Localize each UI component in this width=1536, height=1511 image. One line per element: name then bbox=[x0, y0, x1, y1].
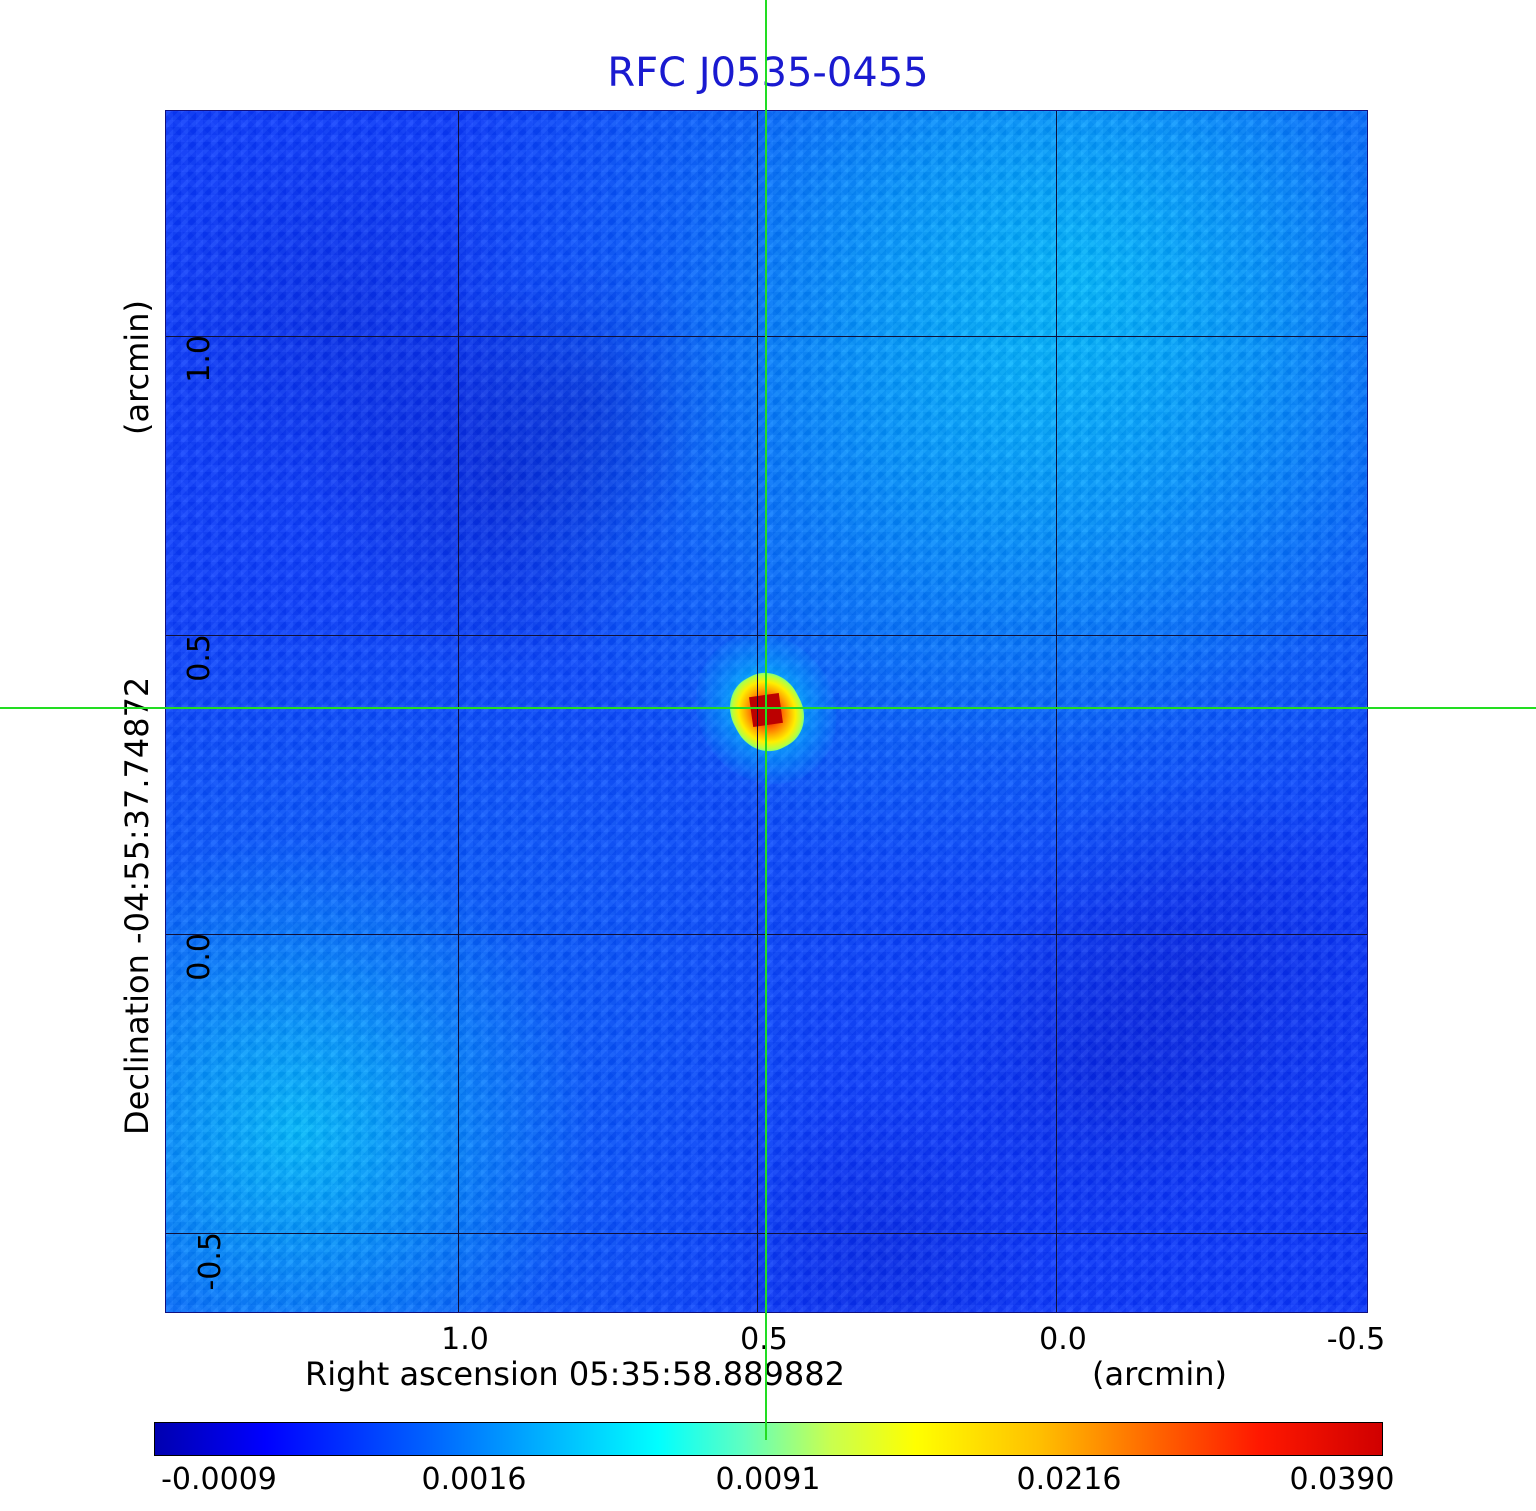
figure-root: RFC J0535-0455 1.0 0.5 0.0 bbox=[0, 0, 1536, 1511]
gridline-vertical-3 bbox=[1056, 111, 1057, 1312]
y-tick-label-2: 0.5 bbox=[182, 634, 217, 682]
y-axis-unit: (arcmin) bbox=[118, 300, 156, 435]
page-title: RFC J0535-0455 bbox=[0, 50, 1536, 96]
colorbar-tick-1: -0.0009 bbox=[161, 1462, 277, 1497]
x-tick-label-4: -0.5 bbox=[1327, 1322, 1386, 1357]
colorbar-tick-5: 0.0390 bbox=[1290, 1462, 1395, 1497]
x-axis-label: Right ascension 05:35:58.889882 bbox=[305, 1355, 845, 1393]
colorbar-tick-3: 0.0091 bbox=[716, 1462, 821, 1497]
crosshair-horizontal bbox=[0, 707, 1536, 709]
y-tick-label-4: -0.5 bbox=[193, 1232, 228, 1291]
colorbar[interactable] bbox=[154, 1422, 1383, 1456]
x-tick-label-1: 1.0 bbox=[441, 1322, 489, 1357]
y-axis-label: Declination -04:55:37.74872 bbox=[118, 677, 156, 1135]
x-tick-label-2: 0.5 bbox=[740, 1322, 788, 1357]
colorbar-tick-2: 0.0016 bbox=[422, 1462, 527, 1497]
x-tick-label-3: 0.0 bbox=[1039, 1322, 1087, 1357]
gridline-vertical-1 bbox=[458, 111, 459, 1312]
gridline-vertical-2 bbox=[757, 111, 758, 1312]
colorbar-tick-4: 0.0216 bbox=[1017, 1462, 1122, 1497]
crosshair-vertical bbox=[765, 0, 767, 1440]
y-tick-label-3: 0.0 bbox=[182, 933, 217, 981]
x-axis-unit: (arcmin) bbox=[1092, 1355, 1227, 1393]
y-tick-label-1: 1.0 bbox=[182, 335, 217, 383]
